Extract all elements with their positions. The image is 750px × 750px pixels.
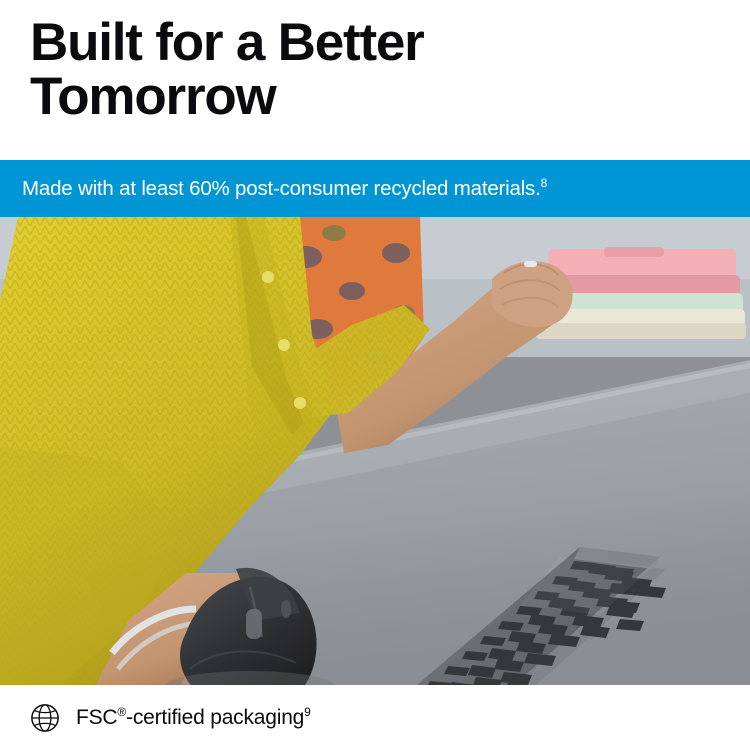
headline-band: Built for a Better Tomorrow (0, 0, 750, 160)
footer-text: FSC®-certified packaging9 (76, 706, 311, 730)
footer-footnote: 9 (304, 705, 310, 719)
subheading-text: Made with at least 60% post-consumer rec… (22, 177, 547, 201)
ring (524, 261, 537, 267)
footer-text-before: FSC (76, 706, 117, 729)
mouse-scroll-wheel (246, 609, 262, 639)
cardigan-button (278, 339, 290, 351)
cardigan-button (262, 271, 274, 283)
cardigan-button (294, 397, 306, 409)
page-title: Built for a Better Tomorrow (30, 16, 720, 124)
footer-text-after: -certified packaging (126, 706, 304, 729)
product-photo (0, 217, 750, 685)
subheading-band: Made with at least 60% post-consumer rec… (0, 160, 750, 217)
globe-icon (30, 703, 60, 733)
subheading-footnote: 8 (541, 176, 547, 190)
footer-band: FSC®-certified packaging9 (0, 685, 750, 750)
registered-mark: ® (117, 705, 126, 719)
photo-illustration (0, 217, 750, 685)
subheading-label: Made with at least 60% post-consumer rec… (22, 177, 541, 200)
promo-image: Built for a Better Tomorrow Made with at… (0, 0, 750, 750)
